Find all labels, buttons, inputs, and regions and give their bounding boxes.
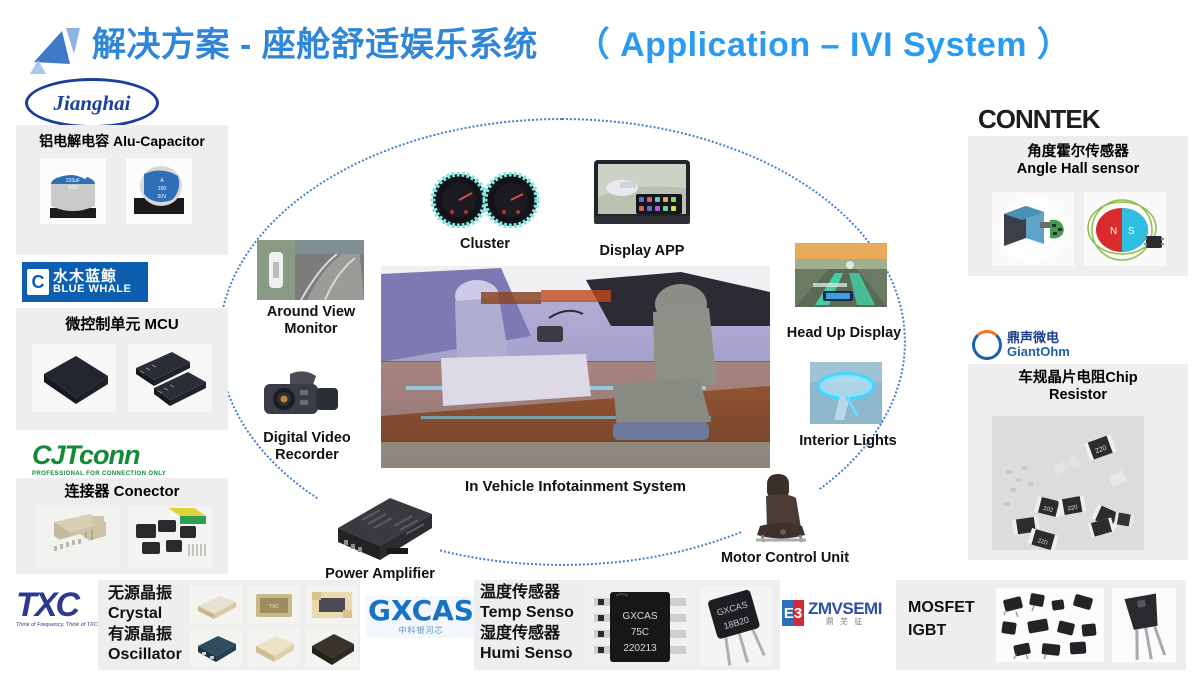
giantohm-logo-mark (972, 330, 1002, 360)
panel-mcu: 微控制单元 MCU (16, 308, 228, 430)
panel-title-en: Angle Hall sensor (968, 161, 1188, 178)
conntek-logo-text: CONNTEK (978, 104, 1138, 135)
label-around-view-monitor: Around View Monitor (240, 304, 382, 337)
panel-gxcas-sensors: 温度传感器 Temp Senso 湿度传感器 Humi Senso (474, 580, 780, 670)
conntek-logo: CONNTEK (978, 104, 1138, 132)
svg-text:50V: 50V (158, 194, 168, 200)
connector-photo-2 (128, 506, 212, 568)
txc-line-4: Oscillator (108, 645, 182, 665)
gxcas-label-lines: 温度传感器 Temp Senso 湿度传感器 Humi Senso (480, 583, 574, 665)
panel-title-alu-capacitor: 铝电解电容 Alu-Capacitor (16, 133, 228, 150)
cjtconn-logo: CJTconn PROFESSIONAL FOR CONNECTION ONLY (22, 440, 172, 476)
gxcas-line-4: Humi Senso (480, 644, 574, 664)
crystal-photo-1 (190, 586, 242, 624)
cluster-image (430, 172, 540, 228)
gxcas-line-2: Temp Senso (480, 603, 574, 623)
svg-text:TXC: TXC (269, 604, 279, 610)
oscillator-photo-3 (306, 628, 358, 666)
gxcas-to92-chip: GXCAS 18B20 (700, 586, 772, 666)
zmvsemi-label-lines: MOSFET IGBT (908, 596, 975, 642)
center-cabin-image (381, 266, 770, 468)
label-display-app: Display APP (572, 243, 712, 260)
svg-text:50V: 50V (69, 185, 79, 191)
gxcas-soic-chip: GXCAS 75C 220213 (586, 586, 694, 666)
blue-whale-logo-mark: C (27, 269, 49, 295)
panel-title-chip-resistor: 车规晶片电阻Chip Resistor (968, 370, 1188, 404)
txc-label-lines: 无源晶振 Crystal 有源晶振 Oscillator (108, 584, 182, 666)
alu-capacitor-photo-2: A 100 50V (126, 158, 192, 224)
panel-title-en: Alu-Capacitor (113, 133, 205, 149)
crystal-photo-3 (306, 586, 358, 624)
gxcas-logo: GXCAS 中科银河芯 (366, 596, 476, 638)
head-up-display-image (795, 243, 887, 307)
panel-title-zh: 角度霍尔传感器 (968, 144, 1188, 161)
svg-text:S: S (1128, 226, 1135, 237)
gxcas-line-3: 湿度传感器 (480, 624, 574, 644)
label-motor-control-unit: Motor Control Unit (700, 550, 870, 567)
cjtconn-logo-text: CJTconn (32, 440, 166, 471)
giantohm-logo-zh: 鼎声微电 (1007, 331, 1070, 345)
connector-photo-1 (36, 506, 120, 568)
gxcas-logo-sub: 中科银河芯 (366, 625, 476, 636)
alu-capacitor-photo-1: 220uF 50V (40, 158, 106, 224)
txc-line-1: 无源晶振 (108, 584, 182, 604)
oscillator-photo-2 (248, 628, 300, 666)
hall-magnet-diagram: N S (1084, 192, 1166, 266)
gxcas-chip-line2: 75C (631, 627, 649, 638)
svg-text:N: N (1110, 226, 1117, 237)
panel-title-en: Resistor (968, 387, 1188, 404)
label-line-2: Monitor (240, 321, 382, 338)
panel-chip-resistor: 车规晶片电阻Chip Resistor 220 102 220 220 (968, 364, 1188, 560)
gxcas-chip-line1: GXCAS (622, 611, 657, 622)
label-line-1: Around View (240, 304, 382, 321)
blue-whale-logo-en: BLUE WHALE (53, 284, 131, 295)
page-title-zh: 解决方案 - 座舱舒适娱乐系统 (92, 26, 538, 64)
panel-title-en: Conector (114, 483, 180, 500)
panel-title-zh: 车规晶片电阻Chip (968, 370, 1188, 387)
around-view-monitor-image (257, 240, 364, 300)
zmvsemi-logo-mark: E3 (782, 600, 804, 626)
power-amplifier-image (318, 492, 440, 564)
label-line-1: Digital Video (232, 430, 382, 447)
cjtconn-logo-tagline: PROFESSIONAL FOR CONNECTION ONLY (32, 471, 166, 477)
txc-line-3: 有源晶振 (108, 625, 182, 645)
blue-whale-logo: C 水木蓝鲸 BLUE WHALE (22, 262, 152, 302)
panel-title-zh: 铝电解电容 (39, 133, 109, 149)
panel-connector: 连接器 Conector (16, 478, 228, 574)
slide-header: 解决方案 - 座舱舒适娱乐系统 （ Application – IVI Syst… (0, 0, 1200, 82)
gxcas-line-1: 温度传感器 (480, 583, 574, 603)
motor-control-unit-image (742, 470, 818, 544)
zmvsemi-logo-en: ZMVSEMI (808, 600, 882, 618)
label-cluster: Cluster (420, 236, 550, 253)
panel-mosfet-igbt: MOSFET IGBT (896, 580, 1186, 670)
triangles-logo-icon (26, 18, 92, 74)
gxcas-chip-line3: 220213 (623, 643, 657, 654)
page-title-en: （ Application – IVI System ） (576, 26, 1072, 64)
panel-title-angle-hall-sensor: 角度霍尔传感器 Angle Hall sensor (968, 144, 1188, 178)
jianghai-logo-text: Jianghai (25, 78, 159, 128)
zmvsemi-line-2: IGBT (908, 619, 975, 642)
mcu-chip-photo-1 (32, 344, 116, 412)
hall-motor-photo (992, 192, 1074, 266)
panel-title-en: MCU (145, 316, 179, 333)
panel-title-zh: 微控制单元 (65, 316, 140, 333)
display-app-image (592, 158, 692, 230)
page-title: 解决方案 - 座舱舒适娱乐系统 （ Application – IVI Syst… (92, 16, 1182, 74)
label-interior-lights: Interior Lights (780, 433, 916, 450)
gxcas-logo-text: GXCAS (366, 596, 476, 625)
oscillator-photo-1 (190, 628, 242, 666)
chip-resistor-photo: 220 102 220 220 (992, 416, 1144, 550)
panel-txc-crystal-oscillator: 无源晶振 Crystal 有源晶振 Oscillator TXC (98, 580, 360, 670)
label-line-2: Recorder (232, 447, 382, 464)
panel-title-zh: 连接器 (64, 483, 109, 500)
blue-whale-logo-zh: 水木蓝鲸 (53, 269, 131, 284)
mosfet-package-group (996, 588, 1104, 662)
zmvsemi-logo: E3 ZMVSEMI 鼎 芜 征 (782, 600, 902, 636)
svg-text:220uF: 220uF (66, 178, 80, 184)
panel-angle-hall-sensor: 角度霍尔传感器 Angle Hall sensor (968, 136, 1188, 276)
label-head-up-display: Head Up Display (775, 325, 913, 342)
panel-title-mcu: 微控制单元 MCU (16, 316, 228, 334)
mcu-chip-photo-2 (128, 344, 212, 412)
txc-line-2: Crystal (108, 604, 182, 624)
label-digital-video-recorder: Digital Video Recorder (232, 430, 382, 463)
interior-lights-image (810, 362, 882, 424)
igbt-to247-photo (1112, 588, 1176, 662)
svg-text:100: 100 (158, 186, 167, 192)
panel-alu-capacitor: 铝电解电容 Alu-Capacitor 220uF 50V A (16, 125, 228, 255)
zmvsemi-logo-zh: 鼎 芜 征 (808, 618, 882, 626)
zmvsemi-line-1: MOSFET (908, 596, 975, 619)
slide-canvas: 解决方案 - 座舱舒适娱乐系统 （ Application – IVI Syst… (0, 0, 1200, 674)
jianghai-logo: Jianghai (22, 86, 162, 120)
crystal-photo-2: TXC (248, 586, 300, 624)
panel-title-connector: 连接器 Conector (16, 483, 228, 501)
digital-video-recorder-image (256, 368, 342, 424)
giantohm-logo-en: GiantOhm (1007, 345, 1070, 359)
